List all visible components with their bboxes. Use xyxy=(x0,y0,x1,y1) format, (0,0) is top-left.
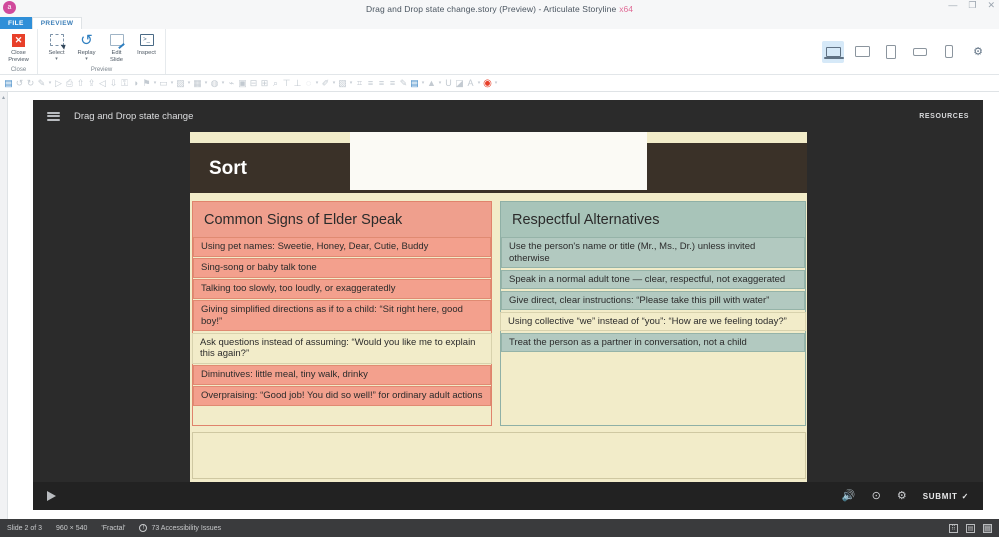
drag-item[interactable]: Speak in a normal adult tone — clear, re… xyxy=(501,270,805,290)
triggers-icon[interactable]: ⚑ xyxy=(141,77,152,90)
align-top-icon[interactable]: ⊤ xyxy=(281,77,292,90)
slide-title: Sort xyxy=(209,158,247,180)
underline-icon[interactable]: U xyxy=(443,77,454,90)
device-phone-portrait-button[interactable] xyxy=(938,41,960,63)
drag-item[interactable]: Use the person's name or title (Mr., Ms.… xyxy=(501,237,805,268)
window-controls: — ❐ ✕ xyxy=(948,1,995,10)
replay-caret-icon[interactable]: ▾ xyxy=(85,57,88,61)
edit-slide-label-2: Slide xyxy=(110,57,123,63)
accessibility-icon: ! xyxy=(139,524,147,532)
left-rail[interactable]: ▴ xyxy=(0,92,8,519)
ribbon-group-preview: Select ▾ ↺ Replay ▾ Edit Slide xyxy=(38,29,166,74)
redo-icon[interactable]: ↻ xyxy=(25,77,36,90)
slide-position: Slide 2 of 3 xyxy=(7,525,42,532)
column-respectful-alternatives: Respectful Alternatives Use the person's… xyxy=(500,201,806,426)
save-icon[interactable]: ▤ xyxy=(3,77,14,90)
drag-item[interactable]: Ask questions instead of assuming: “Woul… xyxy=(192,333,492,364)
check-icon: ✓ xyxy=(962,492,969,501)
ribbon-group-close-label: Close xyxy=(11,67,26,74)
device-desktop-button[interactable] xyxy=(822,41,844,63)
close-icon[interactable]: ✕ xyxy=(987,1,995,10)
marker-caret-icon[interactable]: ▾ xyxy=(493,80,499,86)
text-fill-icon[interactable]: ▤ xyxy=(409,77,420,90)
form-view-icon[interactable]: ▤ xyxy=(983,524,992,533)
volume-icon[interactable]: 🔊 xyxy=(842,491,856,502)
tab-file[interactable]: FILE xyxy=(0,17,32,29)
player-footer: 🔊 ⊙ ⚙ SUBMIT ✓ xyxy=(33,482,983,510)
timeline-icon[interactable]: ⌁ xyxy=(226,77,237,90)
slide-dimensions: 960 × 540 xyxy=(56,525,87,532)
replay-button[interactable]: ↺ Replay ▾ xyxy=(72,31,101,61)
drag-item[interactable]: Overpraising: “Good job! You did so well… xyxy=(193,386,491,406)
slide-view-icon[interactable]: ▤ xyxy=(966,524,975,533)
device-settings-gear-icon[interactable]: ⚙ xyxy=(967,41,989,63)
picture-icon[interactable]: ▨ xyxy=(175,77,186,90)
edit-slide-icon xyxy=(108,31,126,49)
record-icon[interactable]: ◁ xyxy=(97,77,108,90)
select-button[interactable]: Select ▾ xyxy=(42,31,71,61)
align-right-icon[interactable]: ≡ xyxy=(387,77,398,90)
replay-icon: ↺ xyxy=(78,31,96,49)
articulate-storyline-window: a Drag and Drop state change.story (Prev… xyxy=(0,0,999,537)
drag-item[interactable]: Talking too slowly, too loudly, or exagg… xyxy=(193,279,491,299)
close-preview-label-1: Close xyxy=(11,50,26,56)
device-tablet-portrait-button[interactable] xyxy=(880,41,902,63)
lock-icon[interactable]: ⚿ xyxy=(119,77,130,90)
status-bar: Slide 2 of 3 960 × 540 'Fractal' ! 73 Ac… xyxy=(0,519,999,537)
white-overlay-shape xyxy=(350,132,647,190)
column-items-respectful: Use the person's name or title (Mr., Ms.… xyxy=(501,237,805,352)
app-logo-icon: a xyxy=(3,1,16,14)
settings-gear-icon[interactable]: ⚙ xyxy=(897,491,907,502)
column-header-respectful: Respectful Alternatives xyxy=(501,202,805,237)
states-icon[interactable]: ◑ xyxy=(130,77,141,90)
window-title: Drag and Drop state change.story (Previe… xyxy=(366,4,616,14)
story-view-icon[interactable]: ⠿ xyxy=(949,524,958,533)
fill-color-icon[interactable]: ◌ xyxy=(303,77,314,90)
drag-item[interactable]: Using pet names: Sweetie, Honey, Dear, C… xyxy=(193,237,491,257)
layers-icon[interactable]: ⊟ xyxy=(248,77,259,90)
replay-icon[interactable]: ⊙ xyxy=(872,491,881,502)
import-icon[interactable]: ⇩ xyxy=(108,77,119,90)
device-preview-bar: ⚙ xyxy=(822,29,999,74)
format-painter-icon[interactable]: ✎ xyxy=(36,77,47,90)
crop-icon[interactable]: ⌗ xyxy=(354,77,365,90)
ribbon-group-preview-label: Preview xyxy=(91,67,112,74)
quick-access-toolbar: ▤↺↻✎▾▷⎙⇧⇪◁⇩⚿◑⚑▾▭▾▨▾▦▾◍▾⌁▣⊟⊞⌕⊤⊥◌▾✐▾▧▾⌗≡≡≡… xyxy=(0,75,999,92)
submit-button[interactable]: SUBMIT ✓ xyxy=(923,492,969,501)
print-icon[interactable]: ⎙ xyxy=(64,77,75,90)
inspect-console-icon: >_ xyxy=(138,31,156,49)
edit-slide-label-1: Edit xyxy=(111,50,121,56)
marker-icon[interactable]: ◉ xyxy=(482,77,493,90)
drag-item[interactable]: Diminutives: little meal, tiny walk, dri… xyxy=(193,365,491,385)
window-title-suffix: x64 xyxy=(619,4,633,14)
device-tablet-landscape-button[interactable] xyxy=(851,41,873,63)
view-mode-buttons: ⠿ ▤ ▤ xyxy=(949,524,992,533)
notes-icon[interactable]: ⊞ xyxy=(259,77,270,90)
course-player: Drag and Drop state change RESOURCES Sor… xyxy=(33,100,983,510)
effects-icon[interactable]: ▧ xyxy=(337,77,348,90)
resources-button[interactable]: RESOURCES xyxy=(919,113,969,120)
accessibility-label: 73 Accessibility Issues xyxy=(151,525,221,532)
preview-stage: Drag and Drop state change RESOURCES Sor… xyxy=(8,92,999,519)
select-cursor-icon xyxy=(48,31,66,49)
font-color-icon[interactable]: A xyxy=(465,77,476,90)
close-preview-button[interactable]: ✕ Close Preview xyxy=(4,31,33,63)
submit-label: SUBMIT xyxy=(923,492,958,501)
table-icon[interactable]: ▦ xyxy=(192,77,203,90)
slide-canvas: Sort Common Signs of Elder Speak Using p… xyxy=(190,132,807,482)
device-phone-landscape-button[interactable] xyxy=(909,41,931,63)
restore-icon[interactable]: ❐ xyxy=(968,1,976,10)
theme-name: 'Fractal' xyxy=(101,525,125,532)
title-bar: a Drag and Drop state change.story (Prev… xyxy=(0,0,999,17)
slide-icon[interactable]: ▣ xyxy=(237,77,248,90)
inspect-label: Inspect xyxy=(137,50,156,57)
tab-preview[interactable]: PREVIEW xyxy=(32,17,83,29)
ribbon: ✕ Close Preview Close Select ▾ ↺ xyxy=(0,29,999,75)
drag-item[interactable]: Give direct, clear instructions: “Please… xyxy=(501,291,805,311)
drag-item[interactable]: Giving simplified directions as if to a … xyxy=(193,300,491,331)
align-left-icon[interactable]: ≡ xyxy=(365,77,376,90)
drag-item[interactable]: Sing-song or baby talk tone xyxy=(193,258,491,278)
minimize-icon[interactable]: — xyxy=(948,1,957,10)
slide-bottom-dropzone[interactable] xyxy=(192,432,806,479)
column-items-elder-speak: Using pet names: Sweetie, Honey, Dear, C… xyxy=(193,237,491,406)
select-caret-icon[interactable]: ▾ xyxy=(55,57,58,61)
undo-icon[interactable]: ↺ xyxy=(14,77,25,90)
drag-item[interactable]: Treat the person as a partner in convers… xyxy=(501,333,805,353)
sort-columns: Common Signs of Elder Speak Using pet na… xyxy=(192,201,806,426)
shape-icon[interactable]: ▭ xyxy=(158,77,169,90)
align-bottom-icon[interactable]: ⊥ xyxy=(292,77,303,90)
ribbon-tabstrip: FILE PREVIEW xyxy=(0,17,999,29)
edit-text-icon[interactable]: ✎ xyxy=(398,77,409,90)
audio-icon[interactable]: ◍ xyxy=(209,77,220,90)
italic-icon[interactable]: ◪ xyxy=(454,77,465,90)
player-header: Drag and Drop state change RESOURCES xyxy=(33,100,983,132)
ribbon-group-close: ✕ Close Preview Close xyxy=(0,29,38,74)
play-icon[interactable] xyxy=(47,491,56,501)
preview-icon[interactable]: ▷ xyxy=(53,77,64,90)
inspect-button[interactable]: >_ Inspect xyxy=(132,31,161,57)
align-center-icon[interactable]: ≡ xyxy=(376,77,387,90)
hamburger-menu-icon[interactable] xyxy=(47,112,60,121)
close-preview-label-2: Preview xyxy=(8,57,29,63)
player-footer-controls: 🔊 ⊙ ⚙ SUBMIT ✓ xyxy=(842,491,969,502)
edit-slide-button[interactable]: Edit Slide xyxy=(102,31,131,63)
line-color-icon[interactable]: ✐ xyxy=(320,77,331,90)
column-elder-speak: Common Signs of Elder Speak Using pet na… xyxy=(192,201,492,426)
close-x-icon: ✕ xyxy=(10,31,28,49)
zoom-icon[interactable]: ⌕ xyxy=(270,77,281,90)
review-icon[interactable]: ⇪ xyxy=(86,77,97,90)
publish-icon[interactable]: ⇧ xyxy=(75,77,86,90)
player-title: Drag and Drop state change xyxy=(74,111,193,122)
highlight-icon[interactable]: ▲ xyxy=(426,77,437,90)
accessibility-status[interactable]: ! 73 Accessibility Issues xyxy=(139,524,221,532)
drag-item[interactable]: Using collective “we” instead of “you”: … xyxy=(500,312,806,332)
column-header-elder-speak: Common Signs of Elder Speak xyxy=(193,202,491,237)
